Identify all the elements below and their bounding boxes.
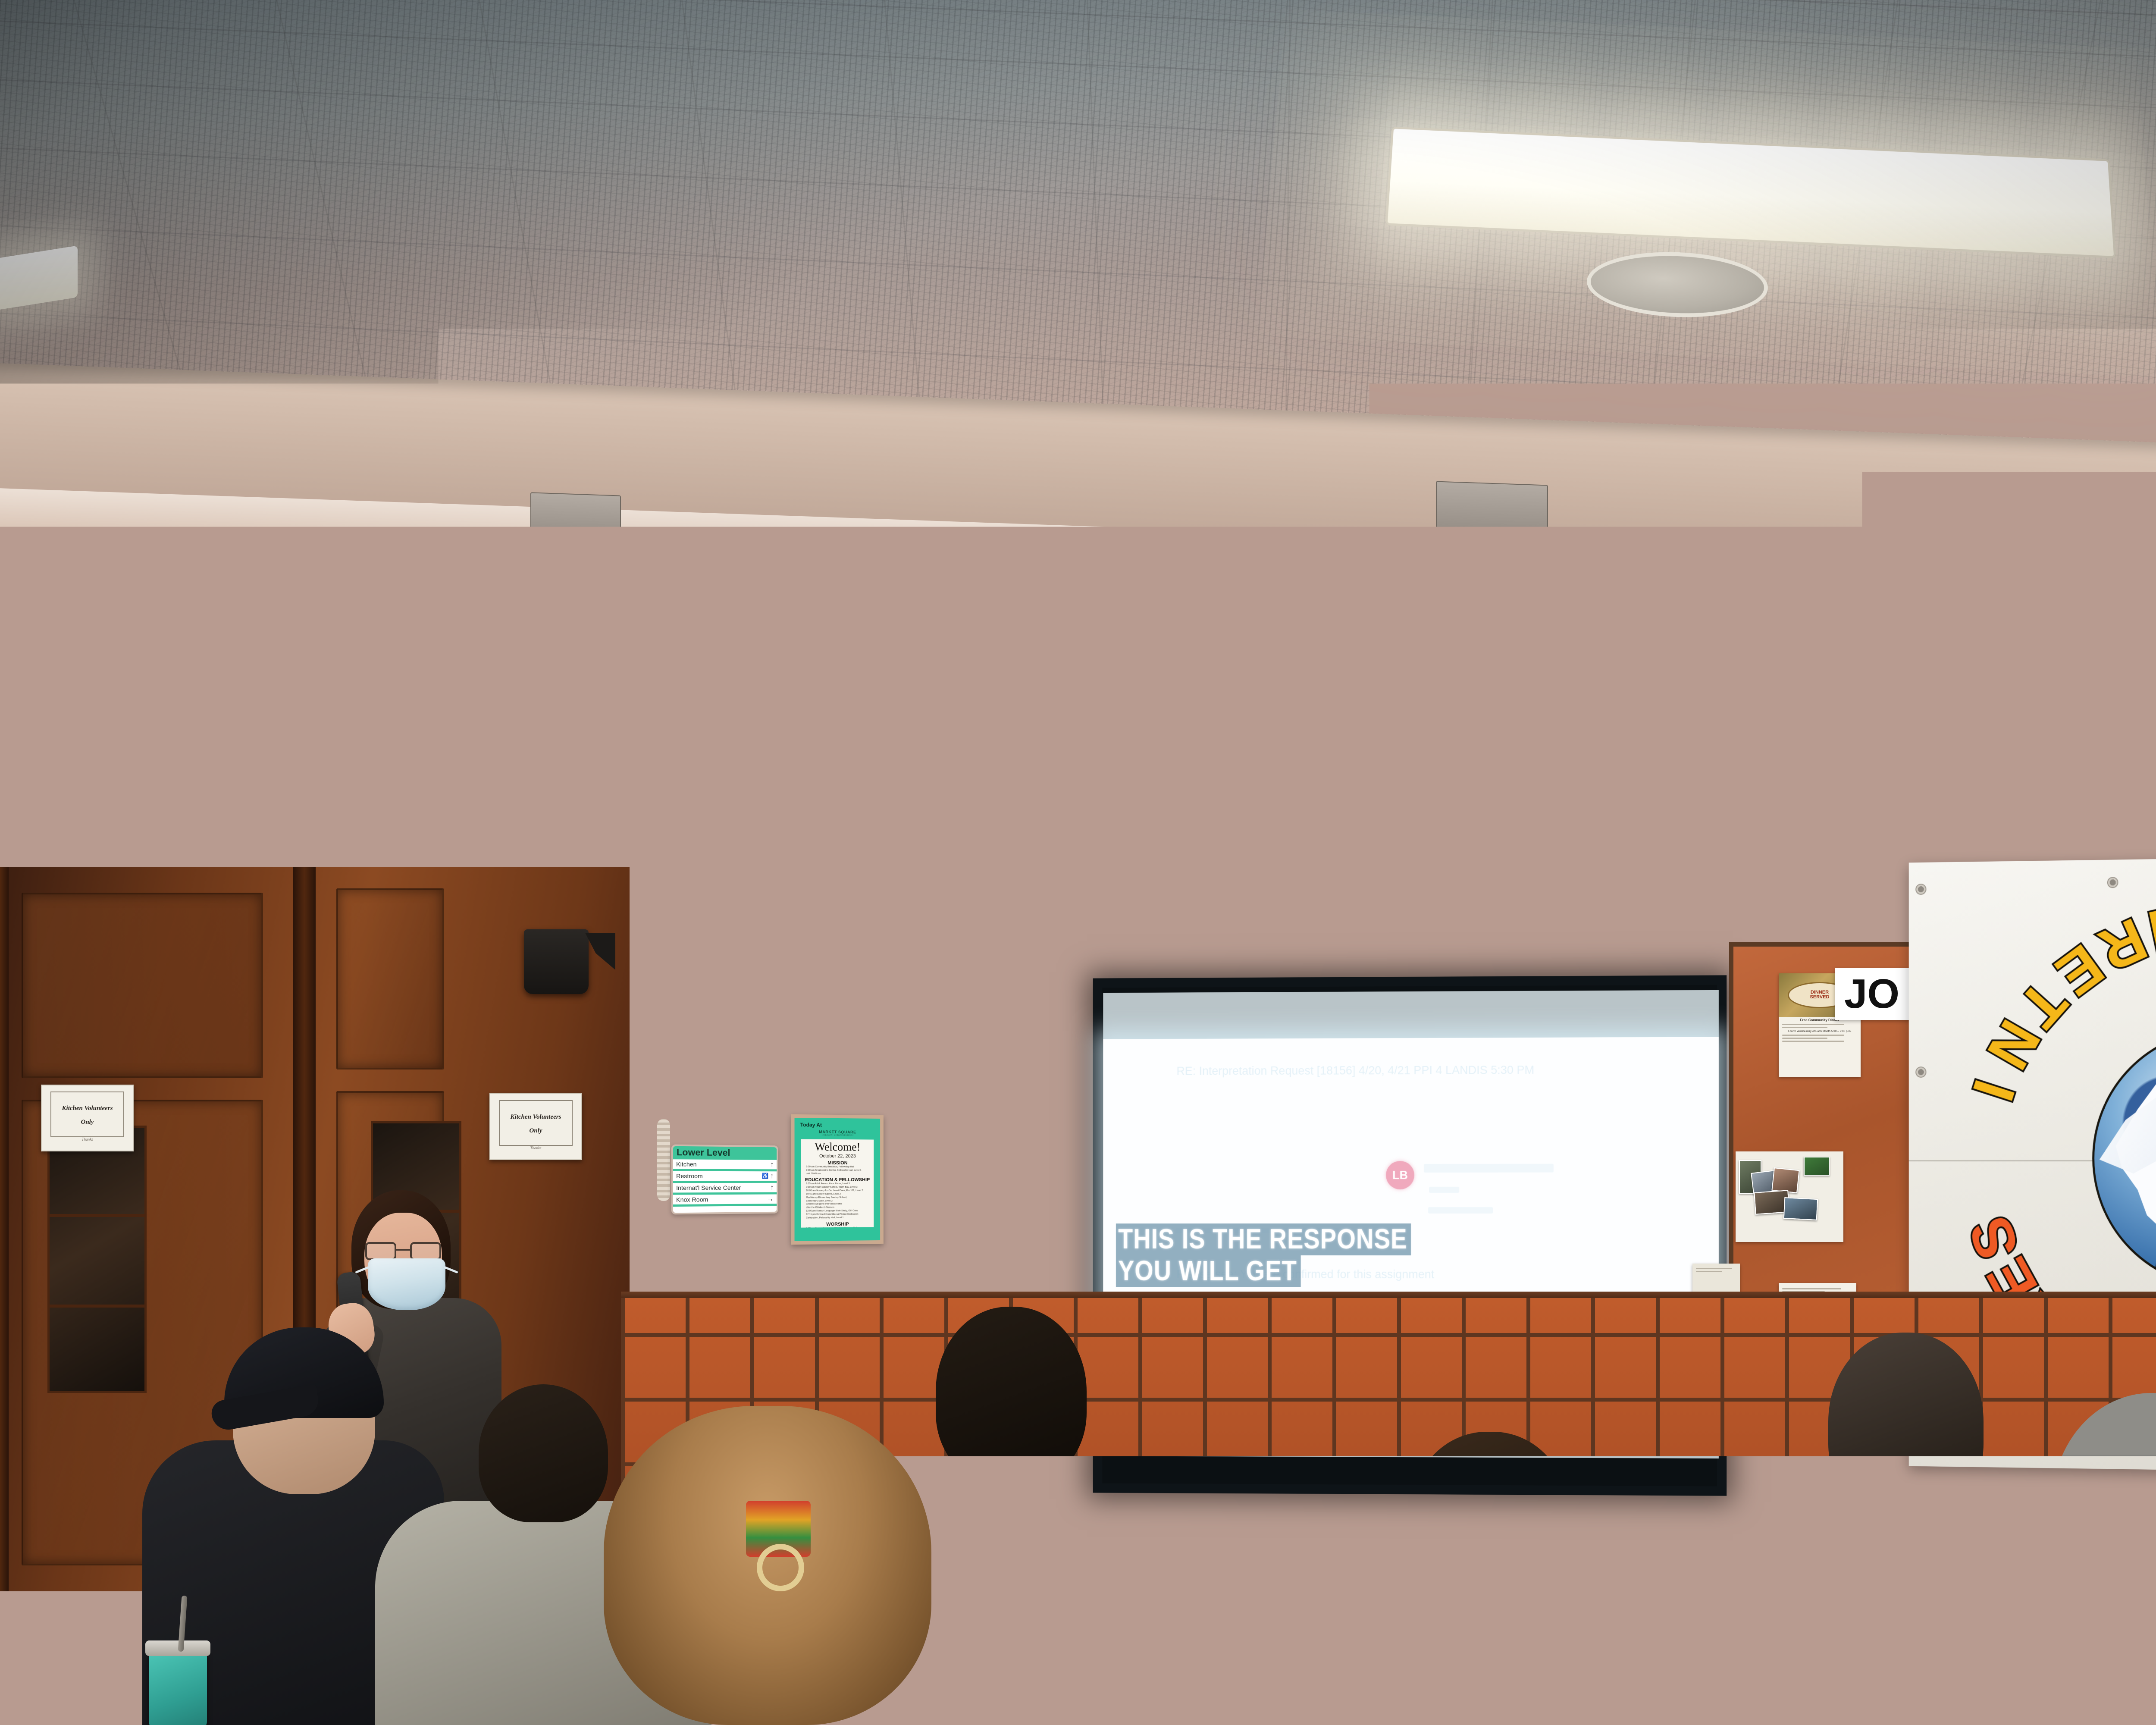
wayfinding-row: Restroom♿↑ (673, 1171, 777, 1183)
wayfinding-row: Kitchen↑ (673, 1159, 777, 1171)
hvac-return-grille (1639, 599, 1884, 756)
flyer-text-line (1782, 1038, 1827, 1039)
wayfinding-row-label: Restroom (676, 1173, 703, 1179)
door-panel-right-upper (336, 888, 444, 1069)
welcome-section-line: until 10:45 am (803, 1173, 871, 1176)
gothic-wall-sconce (858, 895, 942, 1029)
welcome-section-line: 9:00 am Shepherding Center, Fellowship H… (803, 1169, 871, 1173)
flyer-text-line (1782, 1035, 1844, 1036)
audience-hair-far-left (0, 1402, 91, 1583)
lower-level-wayfinding-sign: Lower Level Kitchen↑Restroom♿↑Internat'l… (671, 1145, 778, 1215)
banner-grommet (1915, 884, 1926, 895)
kitchen-volunteers-sign-right: Kitchen Volunteers Only Thanks (489, 1093, 582, 1160)
sign-line-2: Only (530, 1126, 542, 1136)
slide-headline: THIS IS THE RESPONSE YOU WILL GET (1116, 1223, 1451, 1287)
ceiling-tile-line (0, 0, 2156, 42)
travel-tumbler (149, 1652, 207, 1725)
banner-grommet (2107, 877, 2118, 888)
phone-cord (657, 1119, 670, 1201)
wayfinding-rows: Kitchen↑Restroom♿↑Internat'l Service Cen… (673, 1159, 777, 1207)
glass-mullion (50, 1214, 144, 1217)
wall-phone-icon[interactable] (646, 1069, 683, 1120)
knit-beanie-icon (2053, 1393, 2156, 1613)
welcome-heading: Welcome! (803, 1142, 871, 1153)
screen-top-margin (1103, 990, 1719, 1040)
sconce-glass-pane-right (903, 935, 925, 1004)
flyer-text-line (1782, 1288, 1841, 1289)
jobs-sign-text: JO (1844, 973, 1899, 1015)
wayfinding-arrow-icon: ↑ (770, 1183, 774, 1192)
wayfinding-arrow-icon: ↑ (770, 1160, 774, 1169)
welcome-section-line: Celebration, Fellowship Hall, Level 1 (803, 1216, 871, 1220)
flyer-text-line (1782, 1024, 1844, 1025)
wayfinding-header: Lower Level (673, 1146, 777, 1160)
wayfinding-row-label: Internat'l Service Center (676, 1184, 741, 1191)
welcome-section-line: 9:15 am Adult Forum, Knox Room, Level 3 (803, 1182, 871, 1186)
collage-logo (1804, 1157, 1830, 1176)
welcome-section-line: 10:00 am Nursery for Our Least Ones, Rm … (803, 1189, 871, 1193)
collage-photo (1771, 1167, 1799, 1193)
sign-line-3: Thanks (81, 1137, 93, 1142)
slide-sender-meta-2 (1428, 1207, 1493, 1214)
room-photo: MARKET SQUARE RE: Interpretation Request… (0, 0, 2156, 1725)
dinner-flyer-caption: Fourth Wednesday of Each Month 5:30 – 7:… (1779, 1030, 1861, 1033)
presenter-face-mask (368, 1258, 445, 1310)
welcome-sections: MISSION9:00 am Community Breakfast, Fell… (803, 1160, 871, 1227)
flyer-text-line (1696, 1268, 1732, 1269)
collage-photo (1783, 1197, 1818, 1220)
welcome-section-line: 9:00 am Community Breakfast, Fellowship … (803, 1166, 871, 1169)
welcome-bulletin-sign: Today At MARKET SQUARE PRESBYTERIAN CHUR… (791, 1114, 883, 1245)
accessibility-icon: ♿ (762, 1173, 769, 1179)
audience-member-olive-top (1328, 1432, 1647, 1725)
glass-mullion (50, 1305, 144, 1308)
sign-inner-border: Kitchen Volunteers Only Thanks (50, 1091, 125, 1137)
glasses-bridge (396, 1249, 410, 1251)
ceiling-tile-line (0, 0, 2156, 84)
wayfinding-arrow-icon: → (767, 1195, 774, 1203)
ceiling-tile-line (0, 14, 2156, 136)
sconce-body (866, 921, 935, 1024)
photo-collage-flyer (1736, 1151, 1843, 1242)
slide-email-subject: RE: Interpretation Request [18156] 4/20,… (1177, 1064, 1535, 1077)
flyer-text-line (1696, 1271, 1722, 1272)
slide-sender-name (1424, 1164, 1554, 1173)
door-panel-left-upper (22, 893, 263, 1078)
audience-head (479, 1384, 608, 1522)
audience-member-curly-hair (604, 1406, 931, 1725)
sign-line-3: Thanks (530, 1146, 541, 1150)
banner-arc-letter: I (1959, 1072, 2029, 1109)
slide-sender-meta-1 (1429, 1187, 1459, 1193)
ceiling-tile-line (1464, 0, 1493, 482)
door-leaded-glass-left (47, 1126, 147, 1393)
slide-headline-line-1: THIS IS THE RESPONSE (1116, 1223, 1411, 1255)
audience-head (1828, 1333, 1984, 1518)
welcome-bulletin-paper: Welcome! October 22, 2023 MISSION9:00 am… (801, 1139, 874, 1227)
audience-head (936, 1307, 1087, 1483)
flyer-text-line (1782, 1027, 1827, 1028)
wall-speaker-icon (524, 929, 589, 994)
wayfinding-row-label: Kitchen (676, 1160, 697, 1167)
hair-accessory-ring (757, 1544, 804, 1591)
welcome-section-heading: EDUCATION & FELLOWSHIP (803, 1177, 871, 1182)
slide-sender-avatar: LB (1386, 1161, 1414, 1189)
sign-inner-border: Kitchen Volunteers Only Thanks (499, 1100, 573, 1146)
dinner-flyer-title-2: SERVED (1810, 995, 1829, 1000)
audience-member-beanie (2009, 1393, 2156, 1725)
sign-line-2: Only (81, 1118, 94, 1127)
glasses-lens-left (365, 1242, 396, 1260)
glasses-lens-right (410, 1242, 441, 1260)
welcome-date: October 22, 2023 (803, 1154, 871, 1159)
welcome-section-heading: MISSION (803, 1160, 871, 1166)
welcome-church-sub: PRESBYTERIAN CHURCH (797, 1134, 878, 1137)
wayfinding-row: Knox Room→ (673, 1194, 777, 1207)
sign-line-1: Kitchen Volunteers (62, 1104, 113, 1113)
ceiling-tile-line (1644, 0, 1696, 480)
slide-headline-line-2: YOU WILL GET (1116, 1255, 1301, 1287)
welcome-today-label: Today At (800, 1122, 877, 1129)
flyer-text-line (1782, 1041, 1844, 1042)
audience-head (1410, 1432, 1570, 1604)
wayfinding-row-label: Knox Room (676, 1196, 708, 1203)
wayfinding-row: Internat'l Service Center↑ (673, 1183, 777, 1195)
kitchen-volunteers-sign-left: Kitchen Volunteers Only Thanks (41, 1085, 134, 1151)
banner-grommet (1915, 1066, 1926, 1078)
sconce-glass-pane-left (875, 935, 898, 1004)
welcome-section-line: 9:30 am Korean Language Worship, Kearney… (803, 1226, 871, 1227)
wayfinding-arrow-icon: ↑ (770, 1172, 774, 1180)
globe-emblem: ISC (2092, 1028, 2156, 1289)
sign-line-1: Kitchen Volunteers (511, 1113, 561, 1122)
